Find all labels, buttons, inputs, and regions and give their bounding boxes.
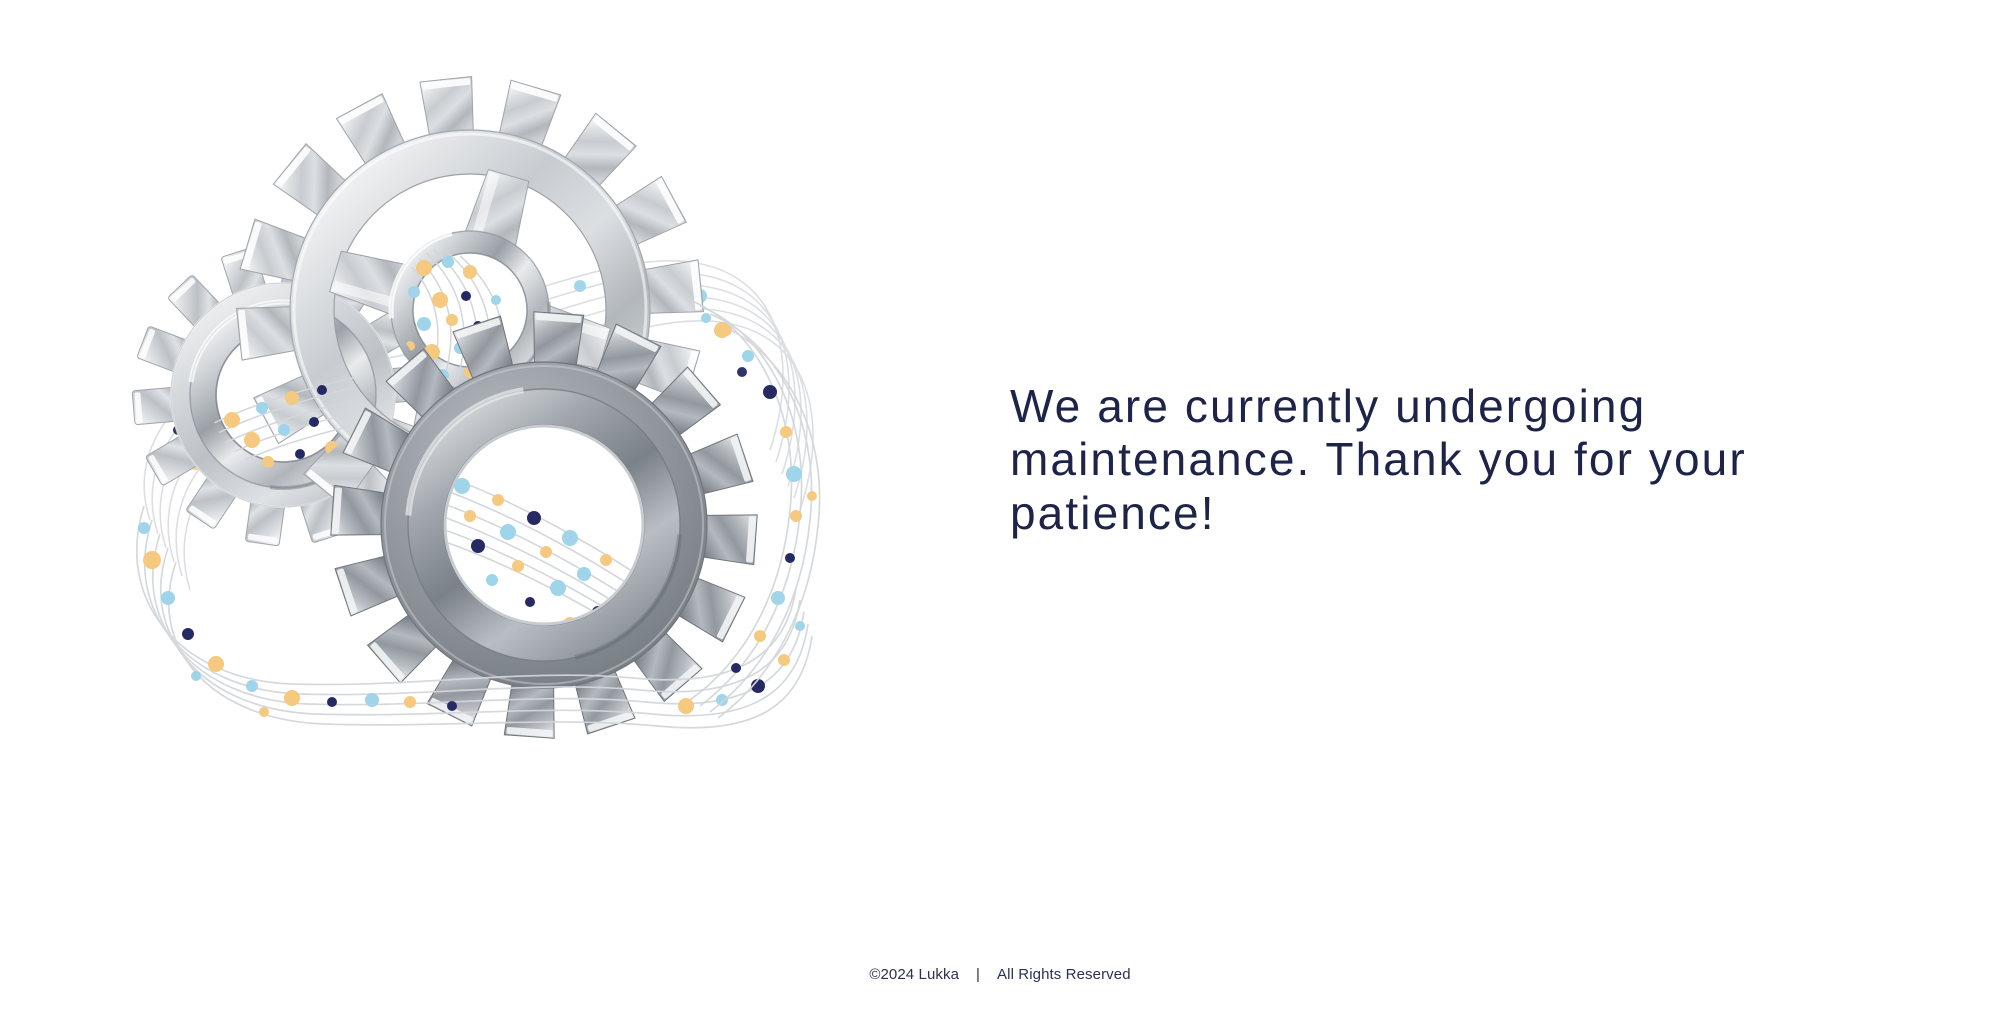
footer-rights: All Rights Reserved xyxy=(997,966,1131,983)
content-row: We are currently undergoing maintenance.… xyxy=(0,0,2000,920)
footer-separator: | xyxy=(976,966,980,983)
footer-copyright: ©2024 Lukka xyxy=(869,966,959,983)
footer: ©2024 Lukka | All Rights Reserved xyxy=(0,920,2000,1020)
message-area: We are currently undergoing maintenance.… xyxy=(1000,0,2000,920)
footer-inner: ©2024 Lukka | All Rights Reserved xyxy=(869,966,1130,983)
maintenance-page: We are currently undergoing maintenance.… xyxy=(0,0,2000,1020)
maintenance-message: We are currently undergoing maintenance.… xyxy=(1010,380,1810,540)
gears-illustration xyxy=(0,0,1000,920)
